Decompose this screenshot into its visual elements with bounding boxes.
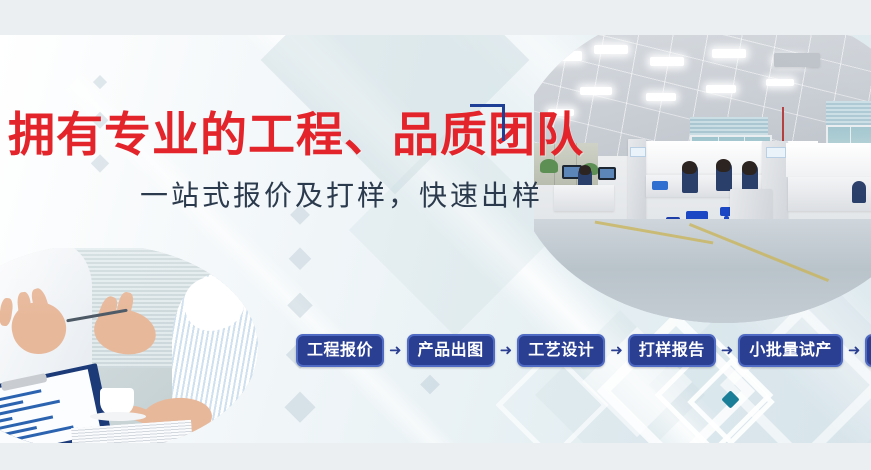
flow-step-label: 打样报告 bbox=[639, 340, 705, 359]
corner-bracket-decoration bbox=[470, 104, 505, 141]
flow-arrow-icon: ➜ bbox=[388, 343, 403, 358]
flow-arrow-icon: ➜ bbox=[847, 343, 862, 358]
process-flow: 工程报价➜产品出图➜工艺设计➜打样报告➜小批量试产➜批量量产 bbox=[296, 334, 871, 367]
flow-arrow-icon: ➜ bbox=[499, 343, 514, 358]
flow-step-label: 小批量试产 bbox=[749, 340, 832, 359]
flow-step-chip[interactable]: 工艺设计 bbox=[517, 334, 605, 367]
flow-arrow-icon: ➜ bbox=[720, 343, 735, 358]
flow-step-chip[interactable]: 产品出图 bbox=[407, 334, 495, 367]
top-band bbox=[0, 0, 871, 35]
promo-banner: 拥有专业的工程、品质团队 一站式报价及打样，快速出样 工程报价➜产品出图➜工艺设… bbox=[0, 0, 871, 470]
bottom-band bbox=[0, 443, 871, 470]
flow-step-label: 产品出图 bbox=[418, 340, 484, 359]
flow-step-chip[interactable]: 小批量试产 bbox=[738, 334, 843, 367]
flow-step-chip[interactable]: 工程报价 bbox=[296, 334, 384, 367]
flow-step-chip[interactable]: 打样报告 bbox=[628, 334, 716, 367]
flow-step-label: 工艺设计 bbox=[528, 340, 594, 359]
flow-step-chip[interactable]: 批量量产 bbox=[865, 334, 871, 367]
subtitle-text: 一站式报价及打样，快速出样 bbox=[140, 182, 543, 210]
flow-step-label: 工程报价 bbox=[307, 340, 373, 359]
flow-arrow-icon: ➜ bbox=[609, 343, 624, 358]
